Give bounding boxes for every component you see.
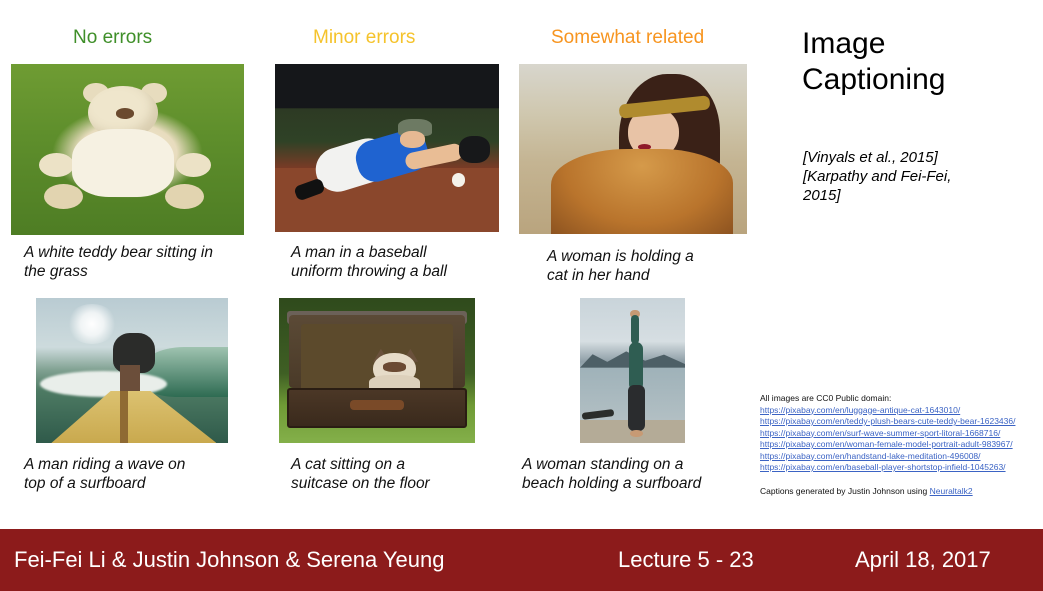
teddy-bear-in-grass-photo bbox=[11, 64, 244, 235]
cat-in-suitcase-photo bbox=[279, 298, 475, 443]
caption-surfer: A man riding a wave on top of a surfboar… bbox=[24, 455, 279, 493]
caption-baseball: A man in a baseball uniform throwing a b… bbox=[291, 243, 531, 281]
credit-link-teddy-plush-bears[interactable]: https://pixabay.com/en/teddy-plush-bears… bbox=[760, 416, 1040, 428]
image-credits-block: All images are CC0 Public domain: https:… bbox=[760, 393, 1040, 497]
caption-handstand: A woman standing on a beach holding a su… bbox=[522, 455, 797, 493]
credits-heading: All images are CC0 Public domain: bbox=[760, 393, 1040, 405]
slide-canvas: No errors Minor errors Somewhat related … bbox=[0, 0, 1043, 591]
caption-cat-suitcase: A cat sitting on a suitcase on the floor bbox=[291, 455, 531, 493]
column-header-minor-errors: Minor errors bbox=[313, 27, 415, 49]
column-header-somewhat-related: Somewhat related bbox=[551, 27, 704, 49]
baseball-player-diving-photo bbox=[275, 64, 499, 232]
slide-footer: Fei-Fei Li & Justin Johnson & Serena Yeu… bbox=[0, 529, 1043, 591]
handstand-at-lake-photo bbox=[580, 298, 685, 443]
caption-note-text: Captions generated by Justin Johnson usi… bbox=[760, 486, 930, 496]
credit-link-baseball-player[interactable]: https://pixabay.com/en/baseball-player-s… bbox=[760, 462, 1040, 474]
credit-link-handstand-lake[interactable]: https://pixabay.com/en/handstand-lake-me… bbox=[760, 451, 1040, 463]
citation-references: [Vinyals et al., 2015] [Karpathy and Fei… bbox=[803, 148, 1028, 205]
credit-link-surf-wave-summer[interactable]: https://pixabay.com/en/surf-wave-summer-… bbox=[760, 428, 1040, 440]
credit-link-luggage-antique-cat[interactable]: https://pixabay.com/en/luggage-antique-c… bbox=[760, 405, 1040, 417]
page-title: Image Captioning bbox=[802, 26, 1037, 98]
column-header-no-errors: No errors bbox=[73, 27, 152, 49]
footer-date: April 18, 2017 bbox=[855, 547, 991, 573]
woman-in-fur-coat-portrait-photo bbox=[519, 64, 747, 234]
neuraltalk2-link[interactable]: Neuraltalk2 bbox=[930, 486, 973, 496]
caption-teddy-bear: A white teddy bear sitting in the grass bbox=[24, 243, 274, 281]
credit-link-woman-female-model[interactable]: https://pixabay.com/en/woman-female-mode… bbox=[760, 439, 1040, 451]
footer-authors: Fei-Fei Li & Justin Johnson & Serena Yeu… bbox=[14, 547, 445, 573]
surfer-riding-wave-photo bbox=[36, 298, 228, 443]
footer-lecture-number: Lecture 5 - 23 bbox=[618, 547, 754, 573]
caption-generation-note: Captions generated by Justin Johnson usi… bbox=[760, 486, 1040, 498]
caption-woman-cat: A woman is holding a cat in her hand bbox=[547, 247, 787, 285]
